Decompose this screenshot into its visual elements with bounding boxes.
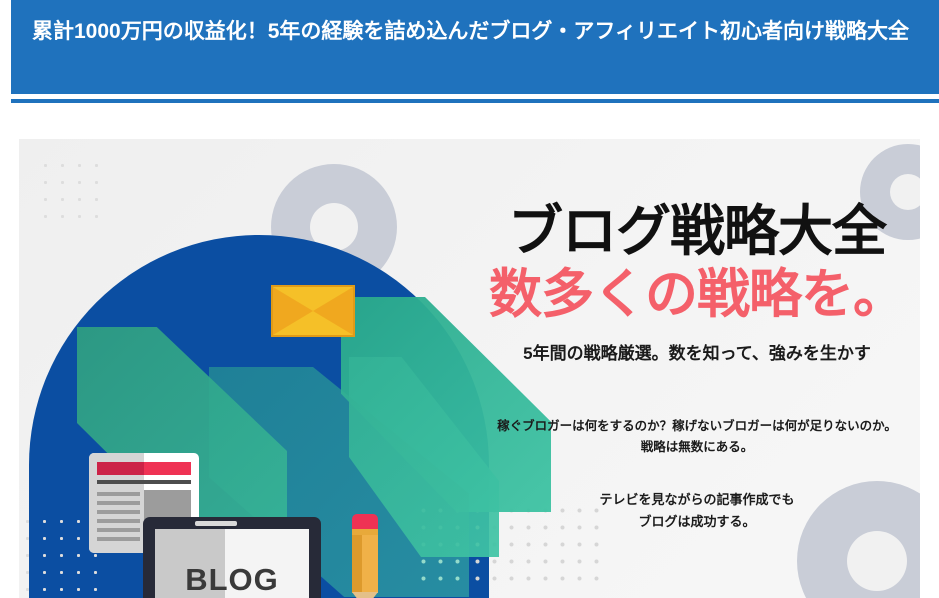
laptop-camera-bar bbox=[195, 521, 237, 526]
newspaper-text-line bbox=[97, 492, 140, 496]
header-divider-rule bbox=[11, 99, 939, 103]
newspaper-headline-bar-shade bbox=[97, 462, 144, 475]
hero-body-paragraph-1: 稼ぐブロガーは何をするのか？稼げないブロガーは何が足りないのか。 戦略は無数にあ… bbox=[474, 416, 920, 458]
hero-copy-block: ブログ戦略大全 数多くの戦略を。 5年間の戦略厳選。数を知って、強みを生かす 稼… bbox=[474, 139, 920, 598]
hero-body-line: 戦略は無数にある。 bbox=[474, 437, 920, 458]
hero-body-paragraph-2: テレビを見ながらの記事作成でも ブログは成功する。 bbox=[474, 489, 920, 533]
pencil-eraser bbox=[352, 514, 378, 530]
envelope-flap-top bbox=[273, 287, 353, 311]
page-header-banner: 累計1000万円の収益化！5年の経験を詰め込んだブログ・アフィリエイト初心者向け… bbox=[11, 0, 939, 94]
pencil-body-shade bbox=[352, 535, 362, 593]
envelope-flap-bottom bbox=[273, 311, 353, 335]
hero-body-line: 稼ぐブロガーは何をするのか？稼げないブロガーは何が足りないのか。 bbox=[474, 416, 920, 437]
hero-illustration: BLOG ブログ戦略大全 数多くの戦略を。 5年間の戦略厳選。数を知って、強みを… bbox=[19, 139, 920, 598]
hero-title-main: ブログ戦略大全 bbox=[474, 201, 920, 261]
pencil-tip bbox=[352, 592, 378, 598]
envelope-icon bbox=[271, 285, 355, 337]
decorative-dot-grid-top-left bbox=[37, 157, 99, 219]
pencil-icon bbox=[352, 514, 378, 598]
newspaper-text-line bbox=[97, 510, 140, 514]
newspaper-photo-block bbox=[144, 490, 191, 520]
hero-title-sub: 数多くの戦略を。 bbox=[474, 265, 920, 325]
hero-tagline: 5年間の戦略厳選。数を知って、強みを生かす bbox=[474, 339, 920, 364]
newspaper-text-line bbox=[97, 501, 140, 505]
decorative-dot-grid-bottom-left bbox=[19, 513, 99, 593]
newspaper-rule bbox=[97, 480, 191, 484]
hero-body-line: ブログは成功する。 bbox=[474, 511, 920, 533]
hero-body-line: テレビを見ながらの記事作成でも bbox=[474, 489, 920, 511]
laptop-screen-label: BLOG bbox=[155, 529, 309, 598]
page-title: 累計1000万円の収益化！5年の経験を詰め込んだブログ・アフィリエイト初心者向け… bbox=[32, 14, 922, 50]
laptop-icon: BLOG bbox=[115, 517, 347, 598]
